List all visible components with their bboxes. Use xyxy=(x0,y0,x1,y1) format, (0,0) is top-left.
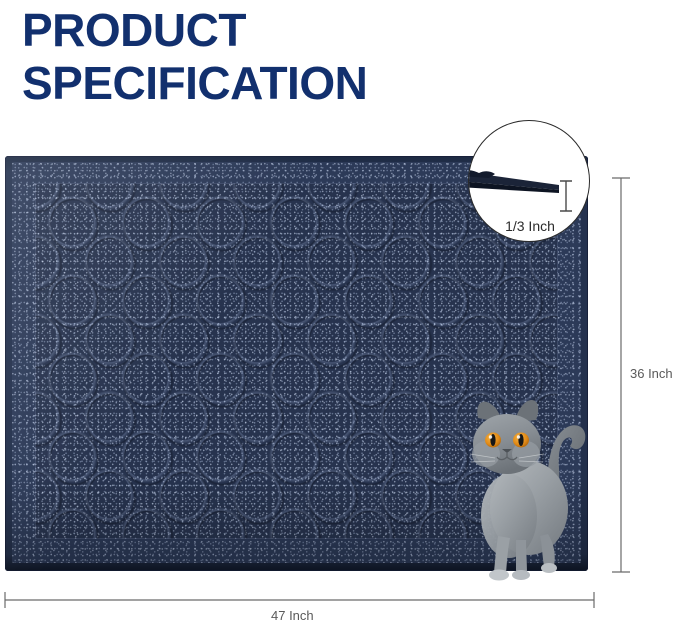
product-specification-page: PRODUCT SPECIFICATION xyxy=(0,0,679,629)
thickness-label: 1/3 Inch xyxy=(469,218,590,234)
width-dimension-label: 47 Inch xyxy=(268,608,317,623)
cat-hind-paw xyxy=(541,563,557,573)
thickness-measure-marker xyxy=(557,179,575,213)
page-title: PRODUCT SPECIFICATION xyxy=(22,4,542,110)
thickness-detail-callout: 1/3 Inch xyxy=(468,120,590,242)
cat-front-paw-right xyxy=(512,570,530,580)
cat-front-leg-right xyxy=(516,540,527,574)
cat-front-paw-left xyxy=(489,570,509,581)
cat-chest xyxy=(481,474,537,558)
british-shorthair-cat xyxy=(462,396,590,582)
cat-eye-highlight-right xyxy=(517,435,520,438)
cat-eye-highlight-left xyxy=(489,435,492,438)
height-dimension-label: 36 Inch xyxy=(630,364,673,383)
